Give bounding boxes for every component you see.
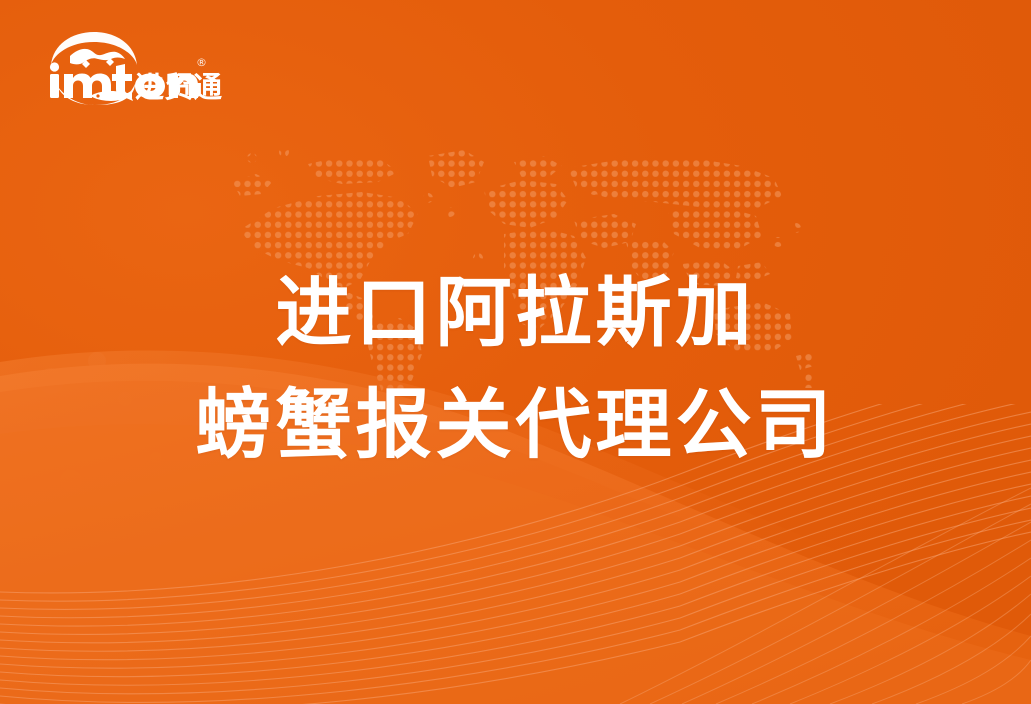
- logo-chinese-name: 进贸通: [135, 70, 222, 104]
- trademark-symbol: ®: [196, 56, 207, 69]
- promotional-banner: imton 进贸通 logo: [0, 0, 1031, 704]
- globe-icon: [51, 32, 137, 68]
- company-logo[interactable]: imton 进贸通 logo: [40, 26, 215, 108]
